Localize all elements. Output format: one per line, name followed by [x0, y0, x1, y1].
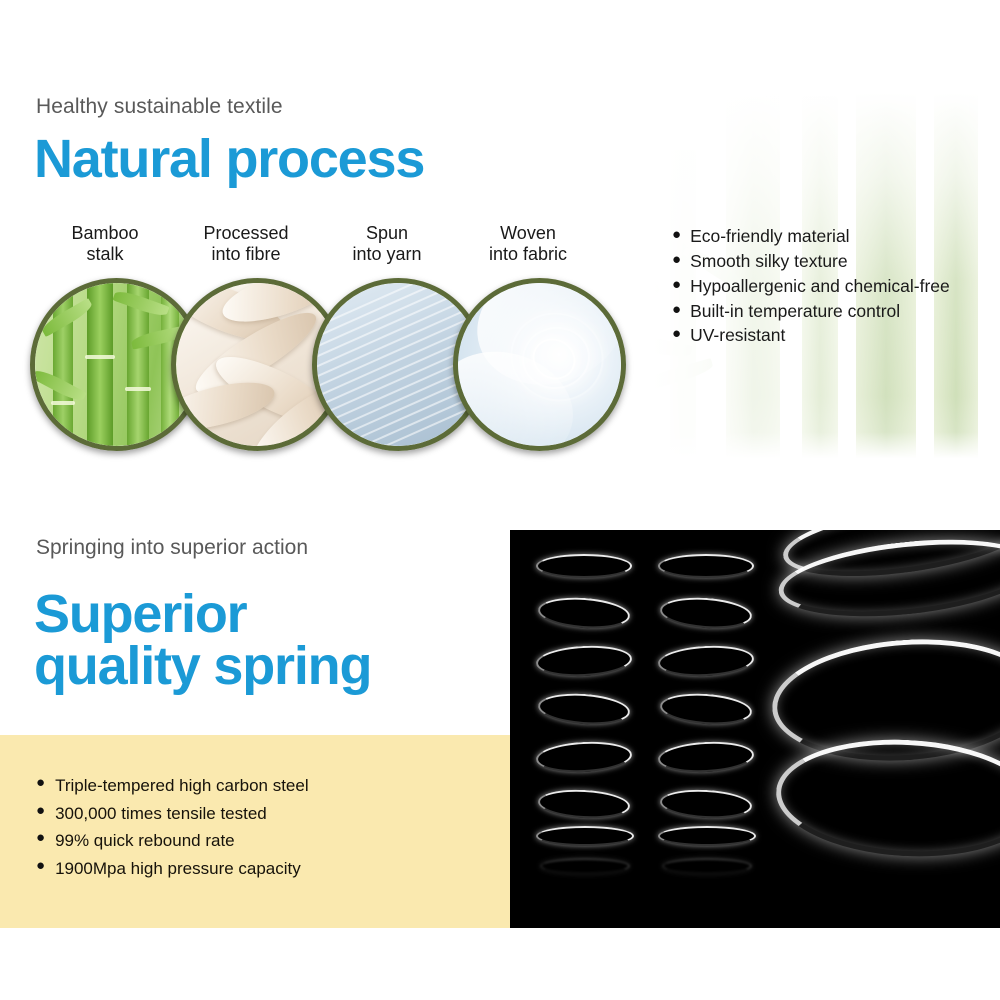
woven-fabric-photo: [458, 283, 621, 446]
spring-feature-list: ● Triple-tempered high carbon steel ● 30…: [36, 772, 309, 882]
process-circle-woven-fabric: [453, 278, 626, 451]
bamboo-eyebrow-text: Healthy sustainable textile: [36, 95, 283, 119]
step-label-line1: Woven: [453, 223, 603, 244]
coil-spring-small: [536, 554, 638, 854]
natural-process-section: Healthy sustainable textile Natural proc…: [0, 0, 1000, 466]
step-label-woven-into-fabric: Woven into fabric: [453, 223, 603, 265]
bullet-icon: ●: [36, 800, 45, 822]
list-item: ● UV-resistant: [672, 323, 950, 348]
list-item-label: 99% quick rebound rate: [55, 827, 235, 855]
step-label-line2: into fibre: [171, 244, 321, 265]
list-item-label: 300,000 times tensile tested: [55, 800, 267, 828]
list-item: ● Eco-friendly material: [672, 224, 950, 249]
list-item-label: 1900Mpa high pressure capacity: [55, 855, 301, 883]
bullet-icon: ●: [672, 224, 681, 246]
bullet-icon: ●: [672, 323, 681, 345]
spring-eyebrow-text: Springing into superior action: [36, 536, 308, 560]
step-label-line1: Bamboo: [30, 223, 180, 244]
list-item: ● 1900Mpa high pressure capacity: [36, 855, 309, 883]
coil-spring-large: [772, 530, 1000, 910]
step-label-spun-into-yarn: Spun into yarn: [312, 223, 462, 265]
list-item: ● 300,000 times tensile tested: [36, 800, 309, 828]
spring-title-line2: quality spring: [34, 640, 371, 692]
step-label-processed-into-fibre: Processed into fibre: [171, 223, 321, 265]
list-item: ● Built-in temperature control: [672, 299, 950, 324]
list-item-label: Smooth silky texture: [690, 249, 848, 274]
step-label-line2: stalk: [30, 244, 180, 265]
step-label-line2: into yarn: [312, 244, 462, 265]
list-item: ● Hypoallergenic and chemical-free: [672, 274, 950, 299]
eco-feature-list: ● Eco-friendly material ● Smooth silky t…: [672, 224, 950, 348]
spring-feature-panel: ● Triple-tempered high carbon steel ● 30…: [0, 735, 510, 928]
step-label-bamboo-stalk: Bamboo stalk: [30, 223, 180, 265]
process-chain: [22, 278, 622, 453]
spring-title-line1: Superior: [34, 588, 371, 640]
process-step-labels: Bamboo stalk Processed into fibre Spun i…: [30, 223, 630, 283]
list-item: ● 99% quick rebound rate: [36, 827, 309, 855]
bullet-icon: ●: [36, 772, 45, 794]
list-item-label: UV-resistant: [690, 323, 785, 348]
list-item-label: Triple-tempered high carbon steel: [55, 772, 309, 800]
coil-springs-photo: [510, 530, 1000, 928]
bullet-icon: ●: [672, 249, 681, 271]
superior-spring-section: Springing into superior action Superior …: [0, 466, 1000, 1000]
list-item: ● Smooth silky texture: [672, 249, 950, 274]
bamboo-page-title: Natural process: [34, 133, 424, 186]
bullet-icon: ●: [672, 299, 681, 321]
bullet-icon: ●: [672, 274, 681, 296]
bullet-icon: ●: [36, 855, 45, 877]
bullet-icon: ●: [36, 827, 45, 849]
spring-page-title: Superior quality spring: [34, 588, 371, 693]
list-item-label: Eco-friendly material: [690, 224, 850, 249]
coil-spring-small: [658, 554, 760, 854]
list-item-label: Built-in temperature control: [690, 299, 900, 324]
step-label-line1: Processed: [171, 223, 321, 244]
step-label-line2: into fabric: [453, 244, 603, 265]
step-label-line1: Spun: [312, 223, 462, 244]
list-item-label: Hypoallergenic and chemical-free: [690, 274, 950, 299]
list-item: ● Triple-tempered high carbon steel: [36, 772, 309, 800]
